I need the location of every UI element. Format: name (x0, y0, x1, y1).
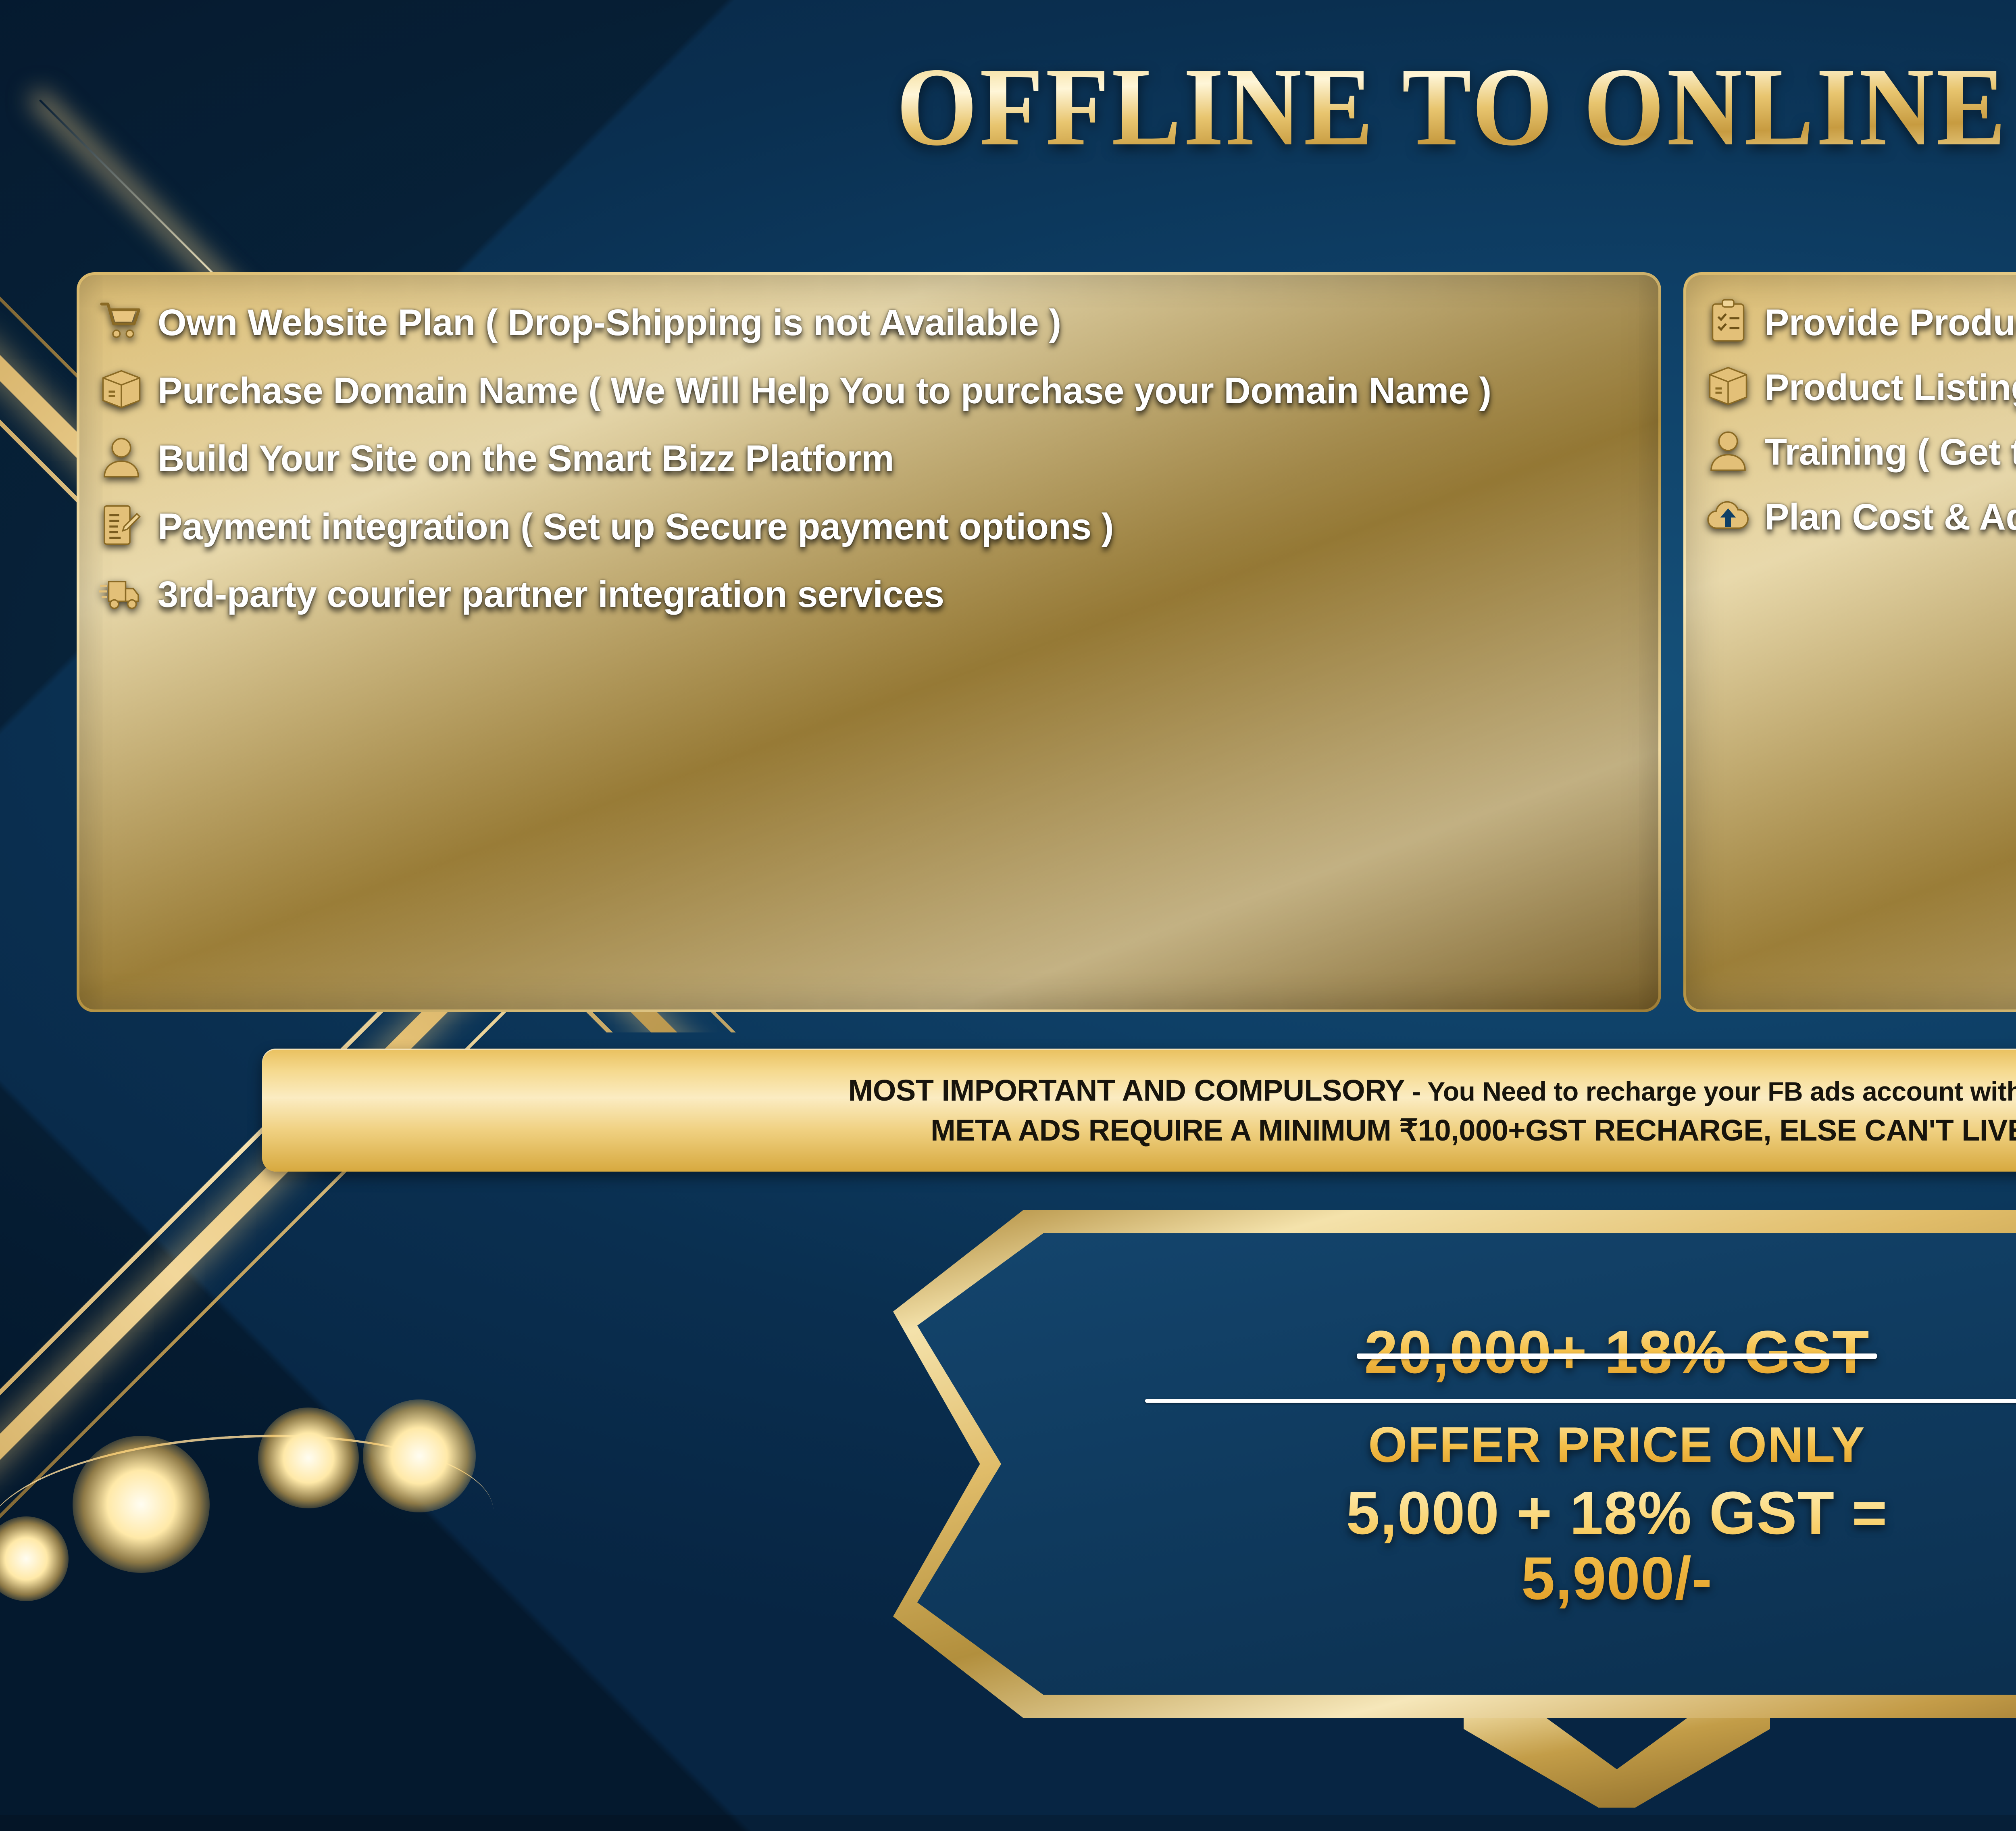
clipboard-checklist-icon (1706, 298, 1751, 344)
old-price: 20,000+ 18% GST (1364, 1317, 1869, 1387)
price-divider (1145, 1399, 2016, 1403)
light-orb (258, 1408, 359, 1508)
offer-price-label: OFFER PRICE ONLY (1368, 1416, 1865, 1474)
bokeh-light-decoration (0, 1315, 564, 1565)
badge-pointer-tail (1464, 1707, 1770, 1808)
document-pen-icon (99, 503, 144, 548)
price-badge: 20,000+ 18% GST OFFER PRICE ONLY 5,000 +… (893, 1210, 2016, 1718)
feature-label: Payment integration ( Set up Secure paym… (158, 502, 1114, 549)
feature-panel-left: Own Website Plan ( Drop-Shipping is not … (77, 272, 1661, 1012)
feature-item: Payment integration ( Set up Secure paym… (99, 502, 1641, 549)
feature-label: Training ( Get training for adding more … (1764, 427, 2016, 474)
delivery-truck-icon (99, 570, 144, 615)
light-orb (73, 1436, 210, 1573)
compulsory-notice-banner: MOST IMPORTANT AND COMPULSORY - You Need… (262, 1049, 2016, 1172)
shopping-cart-icon (99, 298, 144, 344)
package-box-icon (1706, 363, 1751, 409)
offer-price-value: 5,000 + 18% GST = 5,900/- (1346, 1480, 1888, 1611)
page-title: OFFLINE TO ONLINE PLAN (113, 42, 2016, 171)
feature-panels: Own Website Plan ( Drop-Shipping is not … (0, 272, 2016, 1012)
feature-item: Training ( Get training for adding more … (1706, 427, 2016, 474)
feature-label: Build Your Site on the Smart Bizz Platfo… (158, 434, 894, 481)
feature-item: Own Website Plan ( Drop-Shipping is not … (99, 298, 1641, 345)
light-orb (363, 1399, 476, 1512)
old-price-text: 20,000+ 18% GST (1364, 1318, 1869, 1386)
feature-item: Provide Product Info ( Client provides p… (1706, 298, 2016, 345)
notice-line-1: MOST IMPORTANT AND COMPULSORY - You Need… (848, 1072, 2016, 1109)
feature-item: Plan Cost & Ads ( 5,000+ tax ( Plan Fee … (1706, 492, 2016, 539)
user-person-icon (1706, 428, 1751, 473)
feature-label: Purchase Domain Name ( We Will Help You … (158, 366, 1491, 413)
feature-panel-right: Provide Product Info ( Client provides p… (1683, 272, 2016, 1012)
feature-label: Plan Cost & Ads ( 5,000+ tax ( Plan Fee … (1764, 492, 2016, 539)
notice-rest-text: - You Need to recharge your FB ads accou… (1405, 1076, 2016, 1106)
cloud-upload-icon (1706, 493, 1751, 538)
feature-label: 3rd-party courier partner integration se… (158, 569, 944, 617)
feature-item: Purchase Domain Name ( We Will Help You … (99, 366, 1641, 413)
feature-label: Provide Product Info ( Client provides p… (1764, 298, 2016, 345)
package-box-icon (99, 367, 144, 412)
feature-label: Own Website Plan ( Drop-Shipping is not … (158, 298, 1061, 345)
user-person-icon (99, 434, 144, 480)
strikethrough-line (1357, 1353, 1876, 1359)
offer-price-line-1: 5,000 + 18% GST = (1346, 1479, 1888, 1547)
feature-label: Product Listing ( We will List 20 produc… (1764, 363, 2016, 410)
feature-item: Product Listing ( We will List 20 produc… (1706, 363, 2016, 410)
feature-item: Build Your Site on the Smart Bizz Platfo… (99, 434, 1641, 481)
light-thread-line (0, 1422, 494, 1554)
notice-line-2: META ADS REQUIRE A MINIMUM ₹10,000+GST R… (931, 1113, 2016, 1148)
feature-item: 3rd-party courier partner integration se… (99, 569, 1641, 617)
notice-strong-text: MOST IMPORTANT AND COMPULSORY (848, 1074, 1405, 1107)
badge-inner-panel: 20,000+ 18% GST OFFER PRICE ONLY 5,000 +… (917, 1233, 2016, 1695)
offer-price-line-2: 5,900/- (1521, 1544, 1712, 1612)
light-orb (0, 1516, 69, 1601)
